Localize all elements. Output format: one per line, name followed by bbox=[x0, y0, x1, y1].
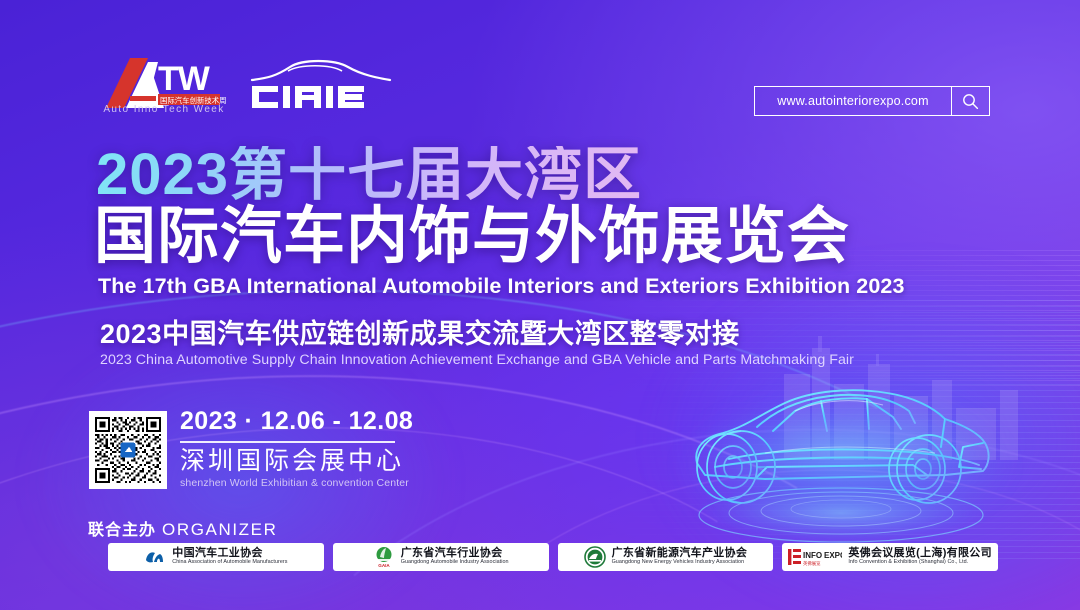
organizer-label: 联合主办ORGANIZER bbox=[88, 516, 277, 540]
organizer-card-infoexpo[interactable]: INFO 英佛展览 EXPO 英佛会议展览(上海)有限公司 Info Conve… bbox=[782, 543, 998, 571]
svg-text:EXPO: EXPO bbox=[824, 551, 842, 560]
caam-logo-icon bbox=[144, 546, 166, 568]
search-icon bbox=[962, 93, 979, 110]
divider bbox=[180, 441, 395, 443]
organizer-card-gaia[interactable]: GAIA 广东省汽车行业协会 Guangdong Automobile Indu… bbox=[333, 543, 549, 571]
organizer-name-cn: 广东省新能源汽车产业协会 bbox=[612, 548, 748, 560]
event-venue-cn: 深圳国际会展中心 bbox=[180, 447, 395, 476]
atw-tagline: Auto Inno Tech Week bbox=[100, 104, 228, 115]
svg-text:TW: TW bbox=[158, 60, 211, 98]
page-title-line2: 国际汽车内饰与外饰展览会 bbox=[94, 204, 850, 269]
qr-code-image bbox=[93, 415, 163, 485]
website-url-text[interactable]: www.autointeriorexpo.com bbox=[754, 86, 952, 116]
organizer-label-en: ORGANIZER bbox=[162, 520, 277, 539]
organizer-name-cn: 英佛会议展览(上海)有限公司 bbox=[848, 548, 992, 560]
page-subtitle-en: The 17th GBA International Automobile In… bbox=[98, 274, 905, 299]
gnev-text: 广东省新能源汽车产业协会 Guangdong New Energy Vehicl… bbox=[612, 548, 748, 566]
svg-text:INFO: INFO bbox=[803, 551, 822, 560]
car-glow bbox=[675, 390, 1015, 540]
page-title-line1: 2023第十七届大湾区 bbox=[96, 146, 642, 204]
caam-text: 中国汽车工业协会 China Association of Automobile… bbox=[172, 548, 287, 566]
qr-code[interactable] bbox=[89, 411, 167, 489]
event-date: 2023 · 12.06 - 12.08 bbox=[180, 408, 395, 436]
wireframe-car-graphic bbox=[645, 355, 1045, 565]
poster-header: TW 国际汽车创新技术周 Auto Inno Tech Week bbox=[0, 0, 1080, 140]
svg-text:英佛展览: 英佛展览 bbox=[803, 560, 821, 567]
infoexpo-text: 英佛会议展览(上海)有限公司 Info Convention & Exhibit… bbox=[848, 548, 992, 566]
organizer-name-en: Info Convention & Exhibition (Shanghai) … bbox=[848, 560, 992, 566]
infoexpo-logo-icon: INFO 英佛展览 EXPO bbox=[788, 546, 842, 568]
svg-text:GAIA: GAIA bbox=[378, 563, 390, 568]
ciaie-logo-icon bbox=[248, 56, 394, 112]
page-secondary-title-en: 2023 China Automotive Supply Chain Innov… bbox=[100, 352, 854, 368]
page-secondary-title-cn: 2023中国汽车供应链创新成果交流暨大湾区整零对接 bbox=[100, 312, 740, 351]
organizer-name-en: Guangdong New Energy Vehicles Industry A… bbox=[612, 560, 748, 566]
organizer-name-en: Guangdong Automobile Industry Associatio… bbox=[401, 560, 509, 566]
organizer-card-caam[interactable]: 中国汽车工业协会 China Association of Automobile… bbox=[108, 543, 324, 571]
event-venue-en: shenzhen World Exhibitian & convention C… bbox=[180, 477, 395, 489]
event-details: 2023 · 12.06 - 12.08 深圳国际会展中心 shenzhen W… bbox=[180, 408, 395, 489]
organizer-name-en: China Association of Automobile Manufact… bbox=[172, 560, 287, 566]
gaia-text: 广东省汽车行业协会 Guangdong Automobile Industry … bbox=[401, 548, 509, 566]
organizer-card-gnev[interactable]: 广东省新能源汽车产业协会 Guangdong New Energy Vehicl… bbox=[558, 543, 774, 571]
gaia-logo-icon: GAIA bbox=[373, 546, 395, 568]
organizer-name-cn: 广东省汽车行业协会 bbox=[401, 548, 509, 560]
exhibition-poster: TW 国际汽车创新技术周 Auto Inno Tech Week bbox=[0, 0, 1080, 610]
gnev-logo-icon bbox=[584, 546, 606, 568]
organizer-logo-row: 中国汽车工业协会 China Association of Automobile… bbox=[108, 543, 998, 571]
organizer-name-cn: 中国汽车工业协会 bbox=[172, 548, 287, 560]
website-search-box[interactable]: www.autointeriorexpo.com bbox=[754, 86, 990, 116]
search-button[interactable] bbox=[952, 86, 990, 116]
organizer-label-cn: 联合主办 bbox=[88, 522, 156, 539]
